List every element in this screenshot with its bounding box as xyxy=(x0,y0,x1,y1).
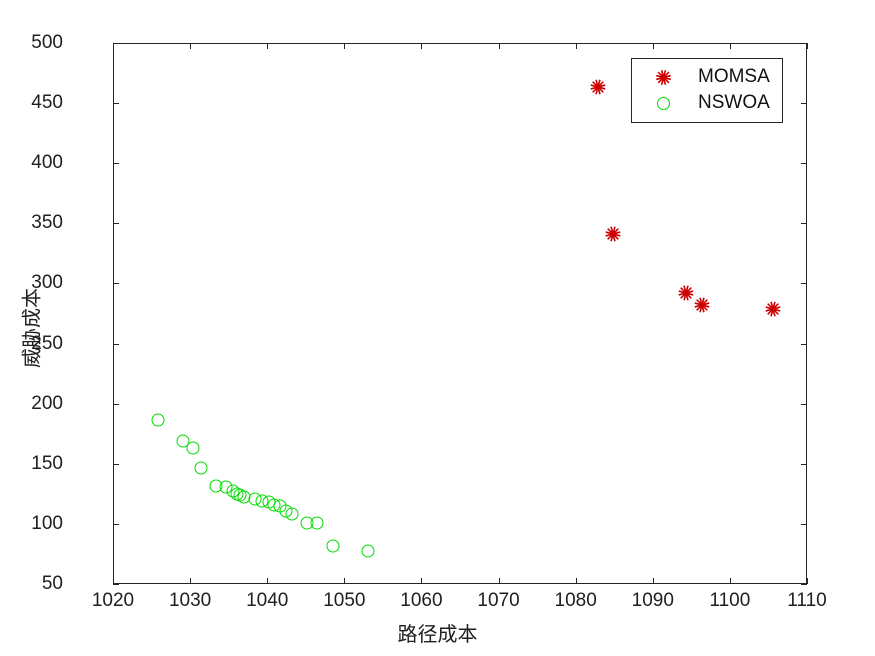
y-axis-tick xyxy=(801,223,807,224)
y-axis-tick xyxy=(801,464,807,465)
x-axis-tick xyxy=(576,43,577,49)
y-axis-tick xyxy=(113,223,119,224)
x-axis-tick xyxy=(576,578,577,584)
plot-area xyxy=(113,43,807,584)
y-tick-label: 500 xyxy=(31,32,63,54)
y-axis-tick xyxy=(113,524,119,525)
x-tick-label: 1080 xyxy=(555,590,597,612)
x-tick-label: 1070 xyxy=(477,590,519,612)
y-tick-label: 150 xyxy=(31,453,63,475)
chart-legend: MOMSANSWOA xyxy=(631,58,783,123)
x-axis-tick xyxy=(730,578,731,584)
x-tick-label: 1040 xyxy=(246,590,288,612)
circle-icon xyxy=(640,97,686,110)
x-axis-label: 路径成本 xyxy=(0,618,875,647)
x-tick-label: 1090 xyxy=(632,590,674,612)
x-axis-tick xyxy=(730,43,731,49)
y-tick-label: 50 xyxy=(42,573,63,595)
y-axis-tick xyxy=(801,524,807,525)
x-axis-tick xyxy=(421,43,422,49)
y-axis-tick xyxy=(113,584,119,585)
y-axis-tick xyxy=(801,43,807,44)
y-axis-label: 威胁成本 xyxy=(16,258,45,398)
y-axis-tick xyxy=(801,163,807,164)
x-tick-label: 1020 xyxy=(92,590,134,612)
legend-entry-nswoa[interactable]: NSWOA xyxy=(640,90,770,116)
y-tick-label: 400 xyxy=(31,152,63,174)
y-tick-label: 100 xyxy=(31,513,63,535)
y-axis-tick xyxy=(801,103,807,104)
y-axis-tick xyxy=(801,404,807,405)
x-axis-tick xyxy=(653,578,654,584)
y-axis-tick xyxy=(113,103,119,104)
y-axis-tick xyxy=(113,344,119,345)
y-axis-tick xyxy=(113,464,119,465)
x-axis-tick xyxy=(499,578,500,584)
scatter-plot-figure: 1020103010401050106010701080109011001110… xyxy=(0,0,875,656)
legend-label: MOMSA xyxy=(686,66,770,88)
x-tick-label: 1030 xyxy=(169,590,211,612)
y-axis-tick xyxy=(113,43,119,44)
y-axis-tick xyxy=(801,584,807,585)
x-axis-tick xyxy=(653,43,654,49)
y-axis-tick xyxy=(113,404,119,405)
y-axis-tick xyxy=(113,283,119,284)
x-axis-tick xyxy=(267,578,268,584)
x-tick-label: 1050 xyxy=(323,590,365,612)
x-axis-tick xyxy=(344,43,345,49)
y-tick-label: 450 xyxy=(31,92,63,114)
x-axis-tick xyxy=(190,578,191,584)
x-axis-tick xyxy=(344,578,345,584)
x-tick-label: 1100 xyxy=(709,590,750,612)
x-axis-tick xyxy=(499,43,500,49)
asterisk-icon xyxy=(640,70,686,85)
y-axis-tick xyxy=(801,283,807,284)
legend-label: NSWOA xyxy=(686,92,770,114)
x-axis-tick xyxy=(807,578,808,584)
y-axis-tick xyxy=(113,163,119,164)
y-tick-label: 350 xyxy=(31,212,63,234)
x-tick-label: 1060 xyxy=(400,590,442,612)
x-axis-tick xyxy=(267,43,268,49)
legend-entry-momsa[interactable]: MOMSA xyxy=(640,64,770,90)
x-axis-tick xyxy=(190,43,191,49)
y-axis-tick xyxy=(801,344,807,345)
x-tick-label: 1110 xyxy=(787,590,826,612)
x-axis-tick xyxy=(421,578,422,584)
x-axis-tick xyxy=(807,43,808,49)
